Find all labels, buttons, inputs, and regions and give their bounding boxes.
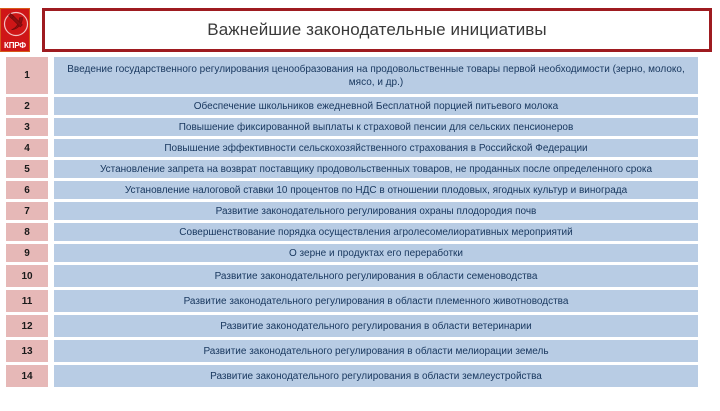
row-number-cell: 7 bbox=[6, 202, 48, 220]
table-row: 12Развитие законодательного регулировани… bbox=[6, 315, 698, 337]
row-number-cell: 14 bbox=[6, 365, 48, 387]
row-number-cell: 9 bbox=[6, 244, 48, 262]
row-number-cell: 1 bbox=[6, 57, 48, 94]
table-row: 8Совершенствование порядка осуществления… bbox=[6, 223, 698, 241]
table-row: 6Установление налоговой ставки 10 процен… bbox=[6, 181, 698, 199]
table-row: 1Введение государственного регулирования… bbox=[6, 57, 698, 94]
row-number-cell: 13 bbox=[6, 340, 48, 362]
kprf-logo: КПРФ bbox=[0, 8, 30, 52]
row-text-cell: Повышение фиксированной выплаты к страхо… bbox=[54, 118, 698, 136]
row-number-cell: 12 bbox=[6, 315, 48, 337]
table-row: 5Установление запрета на возврат поставщ… bbox=[6, 160, 698, 178]
hammer-and-sickle-icon bbox=[3, 10, 29, 40]
row-text-cell: Повышение эффективности сельскохозяйстве… bbox=[54, 139, 698, 157]
slide-title-box: Важнейшие законодательные инициативы bbox=[42, 8, 712, 52]
page-title: Важнейшие законодательные инициативы bbox=[207, 20, 547, 40]
row-text-cell: Развитие законодательного регулирования … bbox=[54, 202, 698, 220]
row-text-cell: Развитие законодательного регулирования … bbox=[54, 265, 698, 287]
row-number-cell: 8 bbox=[6, 223, 48, 241]
row-text-cell: Развитие законодательного регулирования … bbox=[54, 340, 698, 362]
row-number-cell: 10 bbox=[6, 265, 48, 287]
initiatives-table: 1Введение государственного регулирования… bbox=[6, 57, 698, 390]
table-row: 4Повышение эффективности сельскохозяйств… bbox=[6, 139, 698, 157]
table-row: 2Обеспечение школьников ежедневной Беспл… bbox=[6, 97, 698, 115]
slide: КПРФ Важнейшие законодательные инициатив… bbox=[0, 0, 720, 411]
row-text-cell: Развитие законодательного регулирования … bbox=[54, 315, 698, 337]
row-number-cell: 2 bbox=[6, 97, 48, 115]
row-text-cell: Развитие законодательного регулирования … bbox=[54, 365, 698, 387]
row-number-cell: 5 bbox=[6, 160, 48, 178]
table-row: 10Развитие законодательного регулировани… bbox=[6, 265, 698, 287]
kprf-logo-label: КПРФ bbox=[1, 41, 29, 50]
row-number-cell: 3 bbox=[6, 118, 48, 136]
table-row: 11Развитие законодательного регулировани… bbox=[6, 290, 698, 312]
table-row: 14Развитие законодательного регулировани… bbox=[6, 365, 698, 387]
table-row: 9О зерне и продуктах его переработки bbox=[6, 244, 698, 262]
table-row: 3Повышение фиксированной выплаты к страх… bbox=[6, 118, 698, 136]
row-text-cell: О зерне и продуктах его переработки bbox=[54, 244, 698, 262]
row-text-cell: Обеспечение школьников ежедневной Беспла… bbox=[54, 97, 698, 115]
row-text-cell: Развитие законодательного регулирования … bbox=[54, 290, 698, 312]
row-number-cell: 4 bbox=[6, 139, 48, 157]
row-number-cell: 6 bbox=[6, 181, 48, 199]
slide-header: КПРФ Важнейшие законодательные инициатив… bbox=[0, 8, 720, 52]
row-number-cell: 11 bbox=[6, 290, 48, 312]
table-row: 7Развитие законодательного регулирования… bbox=[6, 202, 698, 220]
table-row: 13Развитие законодательного регулировани… bbox=[6, 340, 698, 362]
row-text-cell: Установление запрета на возврат поставщи… bbox=[54, 160, 698, 178]
row-text-cell: Установление налоговой ставки 10 процент… bbox=[54, 181, 698, 199]
row-text-cell: Совершенствование порядка осуществления … bbox=[54, 223, 698, 241]
row-text-cell: Введение государственного регулирования … bbox=[54, 57, 698, 94]
